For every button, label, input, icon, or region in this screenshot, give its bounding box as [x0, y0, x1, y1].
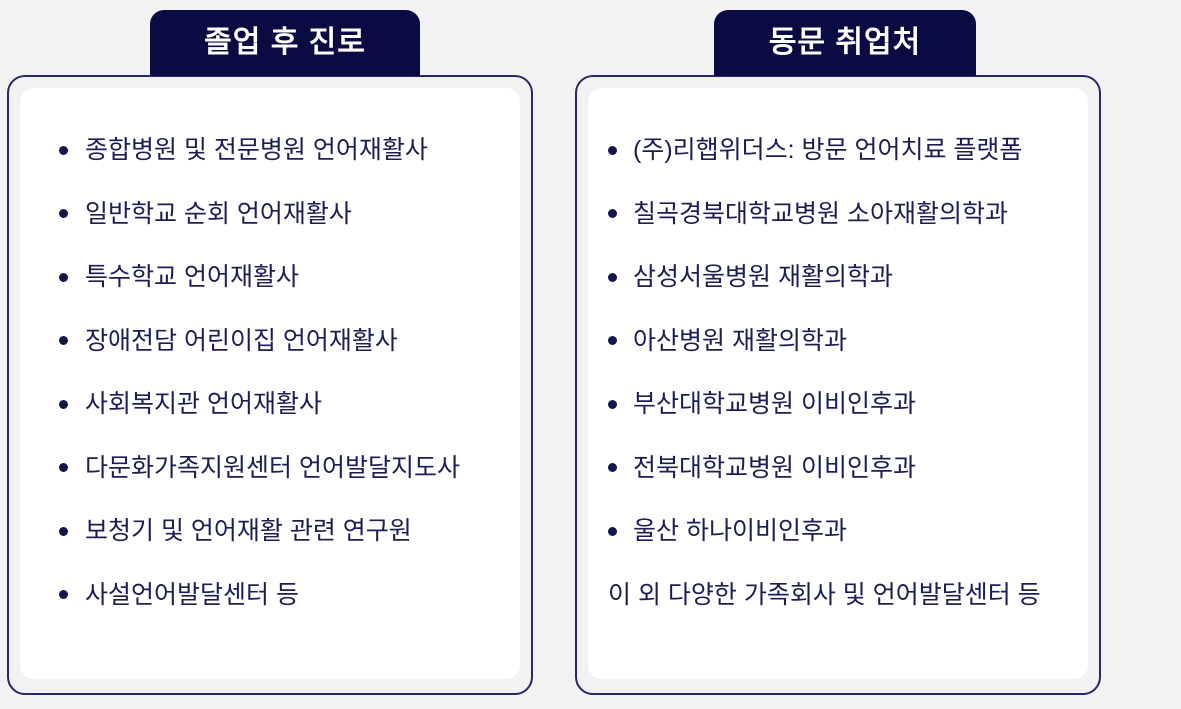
list-item: 삼성서울병원 재활의학과: [608, 262, 1082, 292]
list-item: 일반학교 순회 언어재활사: [59, 199, 510, 229]
list-item: (주)리햅위더스: 방문 언어치료 플랫폼: [608, 135, 1082, 165]
list-item: 칠곡경북대학교병원 소아재활의학과: [608, 199, 1082, 229]
list-item-label: 아산병원 재활의학과: [633, 326, 847, 356]
list-item-label: (주)리햅위더스: 방문 언어치료 플랫폼: [633, 135, 1022, 165]
list-item: 울산 하나이비인후과: [608, 516, 1082, 546]
bullet-icon: [59, 273, 68, 282]
card-career: 종합병원 및 전문병원 언어재활사일반학교 순회 언어재활사특수학교 언어재활사…: [7, 75, 533, 695]
list-item: 보청기 및 언어재활 관련 연구원: [59, 516, 510, 546]
list-item-label: 울산 하나이비인후과: [633, 516, 847, 546]
list-item-label: 부산대학교병원 이비인후과: [633, 389, 916, 419]
bullet-icon: [608, 146, 617, 155]
list-item: 특수학교 언어재활사: [59, 262, 510, 292]
list-item-label: 보청기 및 언어재활 관련 연구원: [85, 516, 412, 546]
bullet-icon: [59, 463, 68, 472]
bullet-icon: [59, 209, 68, 218]
list-item: 사회복지관 언어재활사: [59, 389, 510, 419]
list-note-line: 이 외 다양한 가족회사 및 언어발달센터 등: [608, 580, 1082, 610]
bullet-icon: [608, 400, 617, 409]
list-item-label: 일반학교 순회 언어재활사: [85, 199, 352, 229]
list-item-label: 특수학교 언어재활사: [85, 262, 299, 292]
bullet-icon: [608, 336, 617, 345]
bullet-icon: [59, 146, 68, 155]
list-item-label: 사회복지관 언어재활사: [85, 389, 322, 419]
list-item: 종합병원 및 전문병원 언어재활사: [59, 135, 510, 165]
list-note-label: 이 외 다양한 가족회사 및 언어발달센터 등: [608, 580, 1041, 610]
list-item-label: 장애전담 어린이집 언어재활사: [85, 326, 398, 356]
list-item-label: 다문화가족지원센터 언어발달지도사: [85, 453, 460, 483]
list-item-label: 칠곡경북대학교병원 소아재활의학과: [633, 199, 1008, 229]
bullet-icon: [608, 273, 617, 282]
list-item-label: 전북대학교병원 이비인후과: [633, 453, 916, 483]
bullet-icon: [608, 463, 617, 472]
bullet-icon: [59, 336, 68, 345]
list-item: 장애전담 어린이집 언어재활사: [59, 326, 510, 356]
list-item: 아산병원 재활의학과: [608, 326, 1082, 356]
list-item-label: 사설언어발달센터 등: [85, 580, 299, 610]
list-item: 다문화가족지원센터 언어발달지도사: [59, 453, 510, 483]
bullet-icon: [59, 527, 68, 536]
list-item: 사설언어발달센터 등: [59, 580, 510, 610]
bullet-icon: [59, 400, 68, 409]
card-employers: (주)리햅위더스: 방문 언어치료 플랫폼칠곡경북대학교병원 소아재활의학과삼성…: [575, 75, 1101, 695]
bullet-icon: [59, 590, 68, 599]
card-employers-title-label: 동문 취업처: [769, 28, 921, 58]
bullet-icon: [608, 209, 617, 218]
infographic-board: 종합병원 및 전문병원 언어재활사일반학교 순회 언어재활사특수학교 언어재활사…: [0, 0, 1181, 709]
list-item: 전북대학교병원 이비인후과: [608, 453, 1082, 483]
list-item-label: 삼성서울병원 재활의학과: [633, 262, 893, 292]
list-item-label: 종합병원 및 전문병원 언어재활사: [85, 135, 428, 165]
card-career-inner-panel: 종합병원 및 전문병원 언어재활사일반학교 순회 언어재활사특수학교 언어재활사…: [20, 88, 520, 679]
card-career-title-label: 졸업 후 진로: [204, 28, 366, 58]
list-item: 부산대학교병원 이비인후과: [608, 389, 1082, 419]
bullet-icon: [608, 527, 617, 536]
card-employers-title-tab: 동문 취업처: [714, 10, 976, 76]
card-employers-inner-panel: (주)리햅위더스: 방문 언어치료 플랫폼칠곡경북대학교병원 소아재활의학과삼성…: [588, 88, 1088, 679]
card-career-title-tab: 졸업 후 진로: [150, 10, 420, 76]
